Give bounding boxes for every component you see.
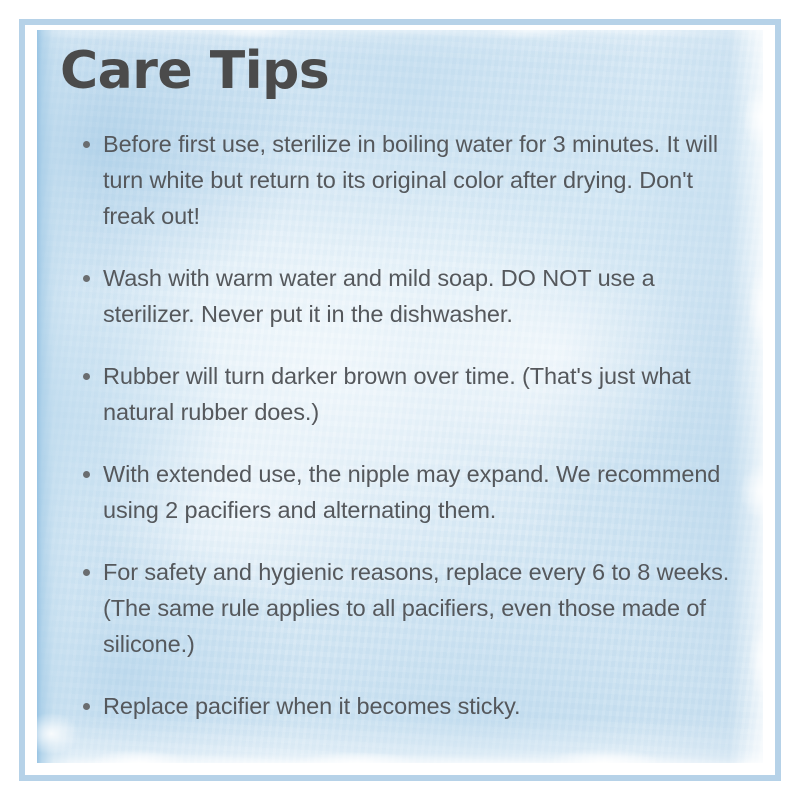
list-item: Wash with warm water and mild soap. DO N…: [81, 260, 741, 332]
bullet-dot-icon: [83, 373, 90, 380]
list-item-text: With extended use, the nipple may expand…: [103, 461, 720, 523]
bullet-dot-icon: [83, 569, 90, 576]
list-item: For safety and hygienic reasons, replace…: [81, 554, 741, 662]
list-item-text: Before first use, sterilize in boiling w…: [103, 131, 718, 229]
bullet-dot-icon: [83, 703, 90, 710]
bullet-dot-icon: [83, 141, 90, 148]
care-tips-card: Care Tips Before first use, sterilize in…: [0, 0, 800, 800]
list-item: Replace pacifier when it becomes sticky.: [81, 688, 741, 724]
bullet-dot-icon: [83, 275, 90, 282]
list-item-text: Rubber will turn darker brown over time.…: [103, 363, 691, 425]
list-item: With extended use, the nipple may expand…: [81, 456, 741, 528]
list-item-text: Replace pacifier when it becomes sticky.: [103, 693, 520, 719]
card-content: Care Tips Before first use, sterilize in…: [37, 30, 763, 763]
care-tips-list: Before first use, sterilize in boiling w…: [81, 126, 741, 724]
watercolor-background-panel: Care Tips Before first use, sterilize in…: [37, 30, 763, 763]
list-item-text: For safety and hygienic reasons, replace…: [103, 559, 729, 657]
list-item: Rubber will turn darker brown over time.…: [81, 358, 741, 430]
bullet-dot-icon: [83, 471, 90, 478]
page-title: Care Tips: [60, 44, 329, 99]
list-item: Before first use, sterilize in boiling w…: [81, 126, 741, 234]
list-item-text: Wash with warm water and mild soap. DO N…: [103, 265, 655, 327]
